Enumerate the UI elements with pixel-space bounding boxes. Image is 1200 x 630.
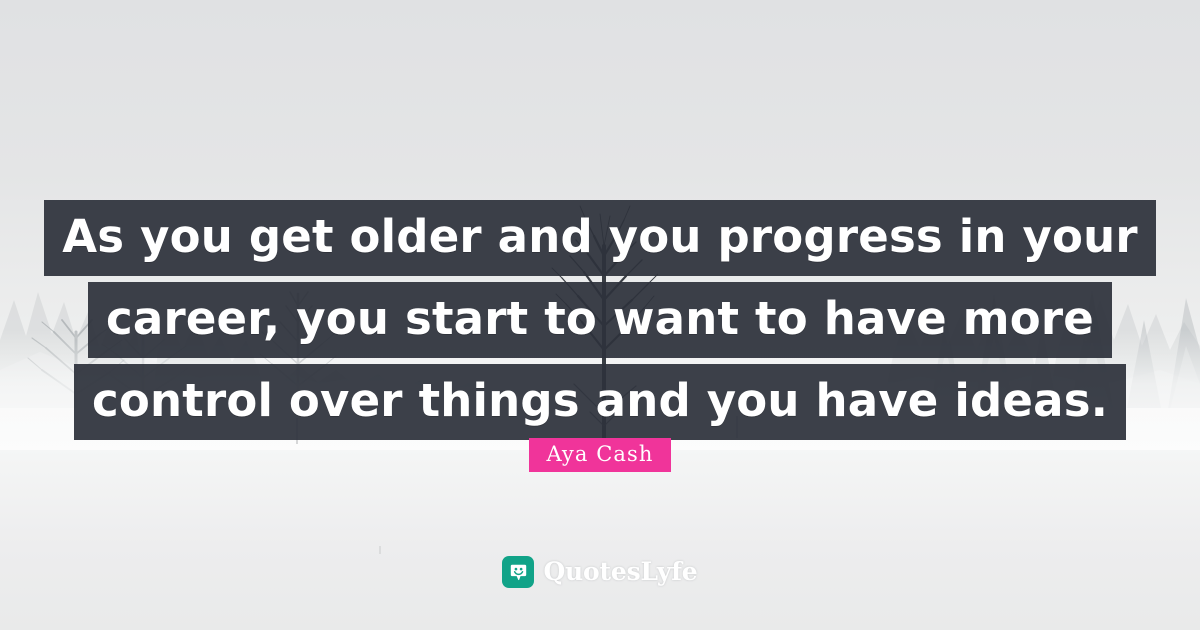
quote-bubble-icon bbox=[502, 556, 534, 588]
snow-stake bbox=[379, 546, 381, 554]
author-badge-wrap: Aya Cash bbox=[0, 438, 1200, 472]
quote-line-wrap: career, you start to want to have more bbox=[0, 282, 1200, 358]
quote-card: As you get older and you progress in you… bbox=[0, 0, 1200, 630]
brand-logo[interactable]: QuotesLyfe bbox=[0, 556, 1200, 588]
quote-line-wrap: control over things and you have ideas. bbox=[0, 364, 1200, 440]
brand-name: QuotesLyfe bbox=[543, 557, 697, 587]
quote-line-1: As you get older and you progress in you… bbox=[44, 200, 1156, 276]
quote-line-3: control over things and you have ideas. bbox=[74, 364, 1126, 440]
quote-block: As you get older and you progress in you… bbox=[0, 200, 1200, 446]
quote-line-2: career, you start to want to have more bbox=[88, 282, 1112, 358]
quote-line-wrap: As you get older and you progress in you… bbox=[0, 200, 1200, 276]
author-name-badge[interactable]: Aya Cash bbox=[529, 438, 670, 472]
